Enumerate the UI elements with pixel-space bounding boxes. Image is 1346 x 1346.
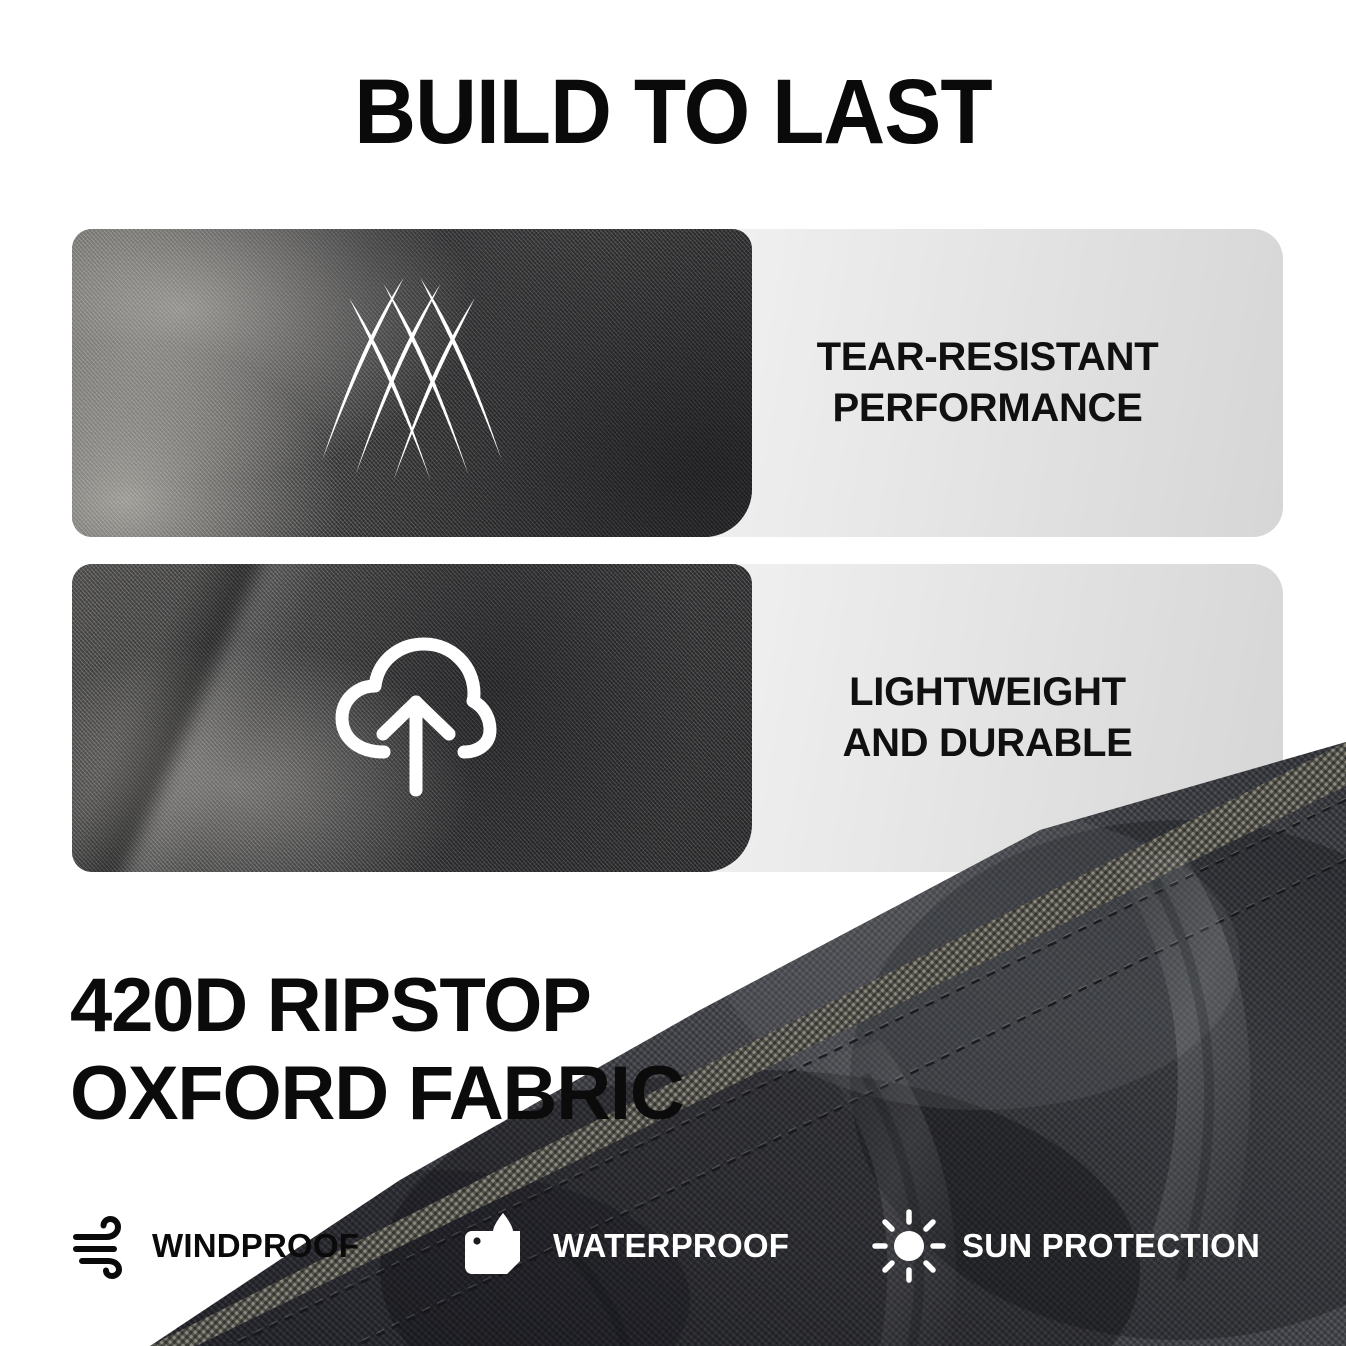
cloth-overlap-upper-right — [1283, 700, 1346, 742]
feature-label-tear-resistant: TEAR-RESISTANT PERFORMANCE — [692, 229, 1283, 537]
feature-badge-strip: WINDPROOF WATERPROOF — [0, 1196, 1346, 1296]
infographic-canvas: BUILD TO LAST TEAR- — [0, 0, 1346, 1346]
feature-label-line-2: PERFORMANCE — [832, 383, 1142, 434]
badge-label-windproof: WINDPROOF — [152, 1227, 359, 1265]
badge-label-sun-protection: SUN PROTECTION — [962, 1227, 1260, 1265]
feature-label-line-1: TEAR-RESISTANT — [817, 332, 1159, 383]
sun-icon — [872, 1209, 946, 1283]
feature-label-line-2: AND DURABLE — [842, 718, 1132, 769]
feature-row-lightweight-durable: LIGHTWEIGHT AND DURABLE — [72, 564, 1283, 872]
fabric-headline-line-1: 420D RIPSTOP — [70, 962, 684, 1050]
badge-sun-protection[interactable]: SUN PROTECTION — [872, 1196, 1260, 1296]
badge-waterproof[interactable]: WATERPROOF — [463, 1196, 789, 1296]
scratch-claw-marks-icon — [72, 229, 752, 537]
fabric-headline-line-2: OXFORD FABRIC — [70, 1050, 684, 1138]
wind-icon — [70, 1213, 136, 1279]
cloud-upload-icon — [72, 564, 752, 872]
page-title: BUILD TO LAST — [47, 66, 1299, 158]
fabric-headline: 420D RIPSTOP OXFORD FABRIC — [70, 962, 684, 1138]
feature-label-line-1: LIGHTWEIGHT — [849, 667, 1126, 718]
badge-windproof[interactable]: WINDPROOF — [70, 1196, 359, 1296]
water-drop-cover-icon — [463, 1209, 537, 1283]
feature-label-lightweight-durable: LIGHTWEIGHT AND DURABLE — [692, 564, 1283, 872]
feature-row-tear-resistant: TEAR-RESISTANT PERFORMANCE — [72, 229, 1283, 537]
badge-label-waterproof: WATERPROOF — [553, 1227, 789, 1265]
